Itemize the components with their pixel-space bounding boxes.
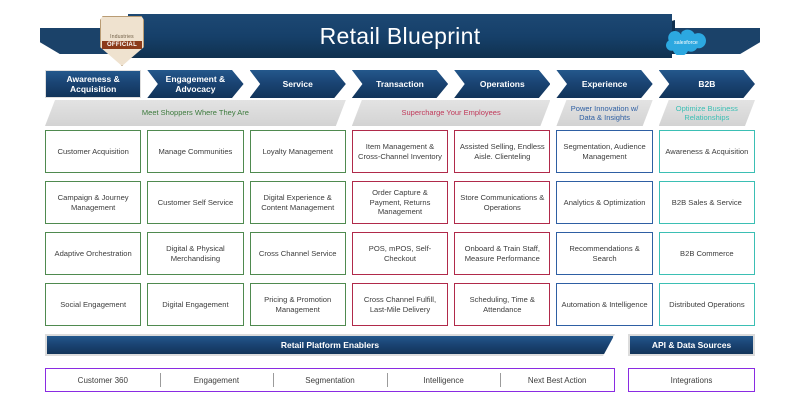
capability-card-label: Automation & Intelligence xyxy=(562,300,648,310)
column-header-4[interactable]: Transaction xyxy=(352,70,448,98)
capability-card-label: Digital & Physical Merchandising xyxy=(151,244,239,263)
column-header-7[interactable]: B2B xyxy=(659,70,755,98)
capability-card[interactable]: Digital & Physical Merchandising xyxy=(147,232,243,275)
footer-item-1[interactable]: Customer 360 xyxy=(46,369,160,391)
capability-card-label: Manage Communities xyxy=(158,147,232,157)
title-banner: Retail Blueprint Industries OFFICIAL sal… xyxy=(0,6,800,64)
ribbon-3: Power Innovation w/ Data & Insights xyxy=(556,100,652,126)
capability-card-label: Customer Acquisition xyxy=(57,147,128,157)
badge-top-label: Industries xyxy=(110,34,134,40)
page-title: Retail Blueprint xyxy=(320,23,481,50)
column-header-5[interactable]: Operations xyxy=(454,70,550,98)
capability-card[interactable]: Adaptive Orchestration xyxy=(45,232,141,275)
capability-card[interactable]: Analytics & Optimization xyxy=(556,181,652,224)
footer-item-label: Segmentation xyxy=(305,376,354,385)
capability-card[interactable]: Pricing & Promotion Management xyxy=(250,283,346,326)
capability-card[interactable]: Manage Communities xyxy=(147,130,243,173)
enablers-label: Retail Platform Enablers xyxy=(281,340,379,350)
column-header-row: Awareness & AcquisitionEngagement & Advo… xyxy=(45,70,755,98)
ribbon-2: Supercharge Your Employees xyxy=(352,100,551,126)
capability-card[interactable]: B2B Commerce xyxy=(659,232,755,275)
column-header-3[interactable]: Service xyxy=(250,70,346,98)
footer-item-label: Engagement xyxy=(194,376,239,385)
capability-card-label: Segmentation, Audience Management xyxy=(560,142,648,161)
footer-item-label: Intelligence xyxy=(423,376,463,385)
capability-card-label: Campaign & Journey Management xyxy=(49,193,137,212)
badge-bottom-label: OFFICIAL xyxy=(102,41,142,49)
capability-card-label: Digital Experience & Content Management xyxy=(254,193,342,212)
capability-card-label: Order Capture & Payment, Returns Managem… xyxy=(356,188,444,217)
capability-card[interactable]: Cross Channel Service xyxy=(250,232,346,275)
capability-card-label: Loyalty Management xyxy=(262,147,333,157)
svg-text:salesforce: salesforce xyxy=(674,40,698,46)
column-header-label: Experience xyxy=(582,79,627,89)
capability-card-label: Cross Channel Fulfill, Last-Mile Deliver… xyxy=(356,295,444,314)
footer-item-5[interactable]: Next Best Action xyxy=(500,369,614,391)
capability-card[interactable]: Assisted Selling, Endless Aisle. Cliente… xyxy=(454,130,550,173)
capability-card-label: B2B Sales & Service xyxy=(672,198,742,208)
column-header-6[interactable]: Experience xyxy=(556,70,652,98)
capability-card[interactable]: Item Management & Cross-Channel Inventor… xyxy=(352,130,448,173)
capability-card[interactable]: Order Capture & Payment, Returns Managem… xyxy=(352,181,448,224)
api-data-sources-bar[interactable]: API & Data Sources xyxy=(628,334,755,356)
capability-card[interactable]: Automation & Intelligence xyxy=(556,283,652,326)
capability-grid: Customer AcquisitionCampaign & Journey M… xyxy=(45,130,755,326)
column-header-label: B2B xyxy=(698,79,715,89)
capability-card-label: Customer Self Service xyxy=(158,198,234,208)
capability-card[interactable]: Customer Self Service xyxy=(147,181,243,224)
banner-body: Retail Blueprint xyxy=(128,14,672,58)
capability-card[interactable]: Segmentation, Audience Management xyxy=(556,130,652,173)
column-header-label: Service xyxy=(283,79,313,89)
integrations-box[interactable]: Integrations xyxy=(628,368,755,392)
capability-card-label: POS, mPOS, Self-Checkout xyxy=(356,244,444,263)
footer-item-4[interactable]: Intelligence xyxy=(387,369,501,391)
footer-item-label: Customer 360 xyxy=(78,376,128,385)
column-header-1[interactable]: Awareness & Acquisition xyxy=(45,70,141,98)
ribbon-label: Meet Shoppers Where They Are xyxy=(142,108,249,117)
capability-card-label: Scheduling, Time & Attendance xyxy=(458,295,546,314)
capability-card-label: Assisted Selling, Endless Aisle. Cliente… xyxy=(458,142,546,161)
column-header-label: Transaction xyxy=(376,79,424,89)
salesforce-cloud-icon: salesforce xyxy=(664,28,708,56)
capability-card[interactable]: Awareness & Acquisition xyxy=(659,130,755,173)
capability-card[interactable]: Social Engagement xyxy=(45,283,141,326)
ribbon-4: Optimize Business Relationships xyxy=(659,100,755,126)
retail-platform-enablers-bar[interactable]: Retail Platform Enablers xyxy=(45,334,615,356)
capability-card[interactable]: Onboard & Train Staff, Measure Performan… xyxy=(454,232,550,275)
capability-card[interactable]: B2B Sales & Service xyxy=(659,181,755,224)
column-header-2[interactable]: Engagement & Advocacy xyxy=(147,70,243,98)
ribbon-label: Optimize Business Relationships xyxy=(669,104,745,123)
capability-card-label: Digital Engagement xyxy=(162,300,228,310)
capability-card-label: Recommendations & Search xyxy=(560,244,648,263)
capability-card[interactable]: Digital Experience & Content Management xyxy=(250,181,346,224)
capability-card[interactable]: Loyalty Management xyxy=(250,130,346,173)
capability-card[interactable]: Digital Engagement xyxy=(147,283,243,326)
capability-card-label: Cross Channel Service xyxy=(259,249,337,259)
ribbon-label: Supercharge Your Employees xyxy=(402,108,501,117)
ribbon-subtitle-row: Meet Shoppers Where They AreSupercharge … xyxy=(45,100,755,126)
industries-official-badge: Industries OFFICIAL xyxy=(100,16,144,66)
capability-card[interactable]: Distributed Operations xyxy=(659,283,755,326)
integrations-label: Integrations xyxy=(671,376,713,385)
footer-item-label: Next Best Action xyxy=(528,376,587,385)
capability-card[interactable]: Recommendations & Search xyxy=(556,232,652,275)
footer-item-3[interactable]: Segmentation xyxy=(273,369,387,391)
ribbon-label: Power Innovation w/ Data & Insights xyxy=(566,104,642,123)
capability-card-label: Store Communications & Operations xyxy=(458,193,546,212)
capability-card-label: Awareness & Acquisition xyxy=(665,147,748,157)
capability-card[interactable]: POS, mPOS, Self-Checkout xyxy=(352,232,448,275)
ribbon-1: Meet Shoppers Where They Are xyxy=(45,100,346,126)
column-header-label: Operations xyxy=(480,79,525,89)
capability-card-label: Onboard & Train Staff, Measure Performan… xyxy=(458,244,546,263)
footer-item-2[interactable]: Engagement xyxy=(160,369,274,391)
capability-card[interactable]: Campaign & Journey Management xyxy=(45,181,141,224)
capability-card[interactable]: Store Communications & Operations xyxy=(454,181,550,224)
capability-card-label: Adaptive Orchestration xyxy=(55,249,132,259)
capability-card[interactable]: Customer Acquisition xyxy=(45,130,141,173)
capability-card-label: Social Engagement xyxy=(60,300,126,310)
capability-card-label: Distributed Operations xyxy=(669,300,745,310)
footer-capability-bar: Customer 360EngagementSegmentationIntell… xyxy=(45,368,615,392)
column-header-label: Engagement & Advocacy xyxy=(151,74,239,94)
api-label: API & Data Sources xyxy=(652,340,731,350)
capability-card[interactable]: Cross Channel Fulfill, Last-Mile Deliver… xyxy=(352,283,448,326)
column-header-label: Awareness & Acquisition xyxy=(50,74,136,94)
capability-card-label: Item Management & Cross-Channel Inventor… xyxy=(356,142,444,161)
capability-card-label: B2B Commerce xyxy=(680,249,734,259)
capability-card-label: Analytics & Optimization xyxy=(564,198,646,208)
capability-card-label: Pricing & Promotion Management xyxy=(254,295,342,314)
capability-card[interactable]: Scheduling, Time & Attendance xyxy=(454,283,550,326)
